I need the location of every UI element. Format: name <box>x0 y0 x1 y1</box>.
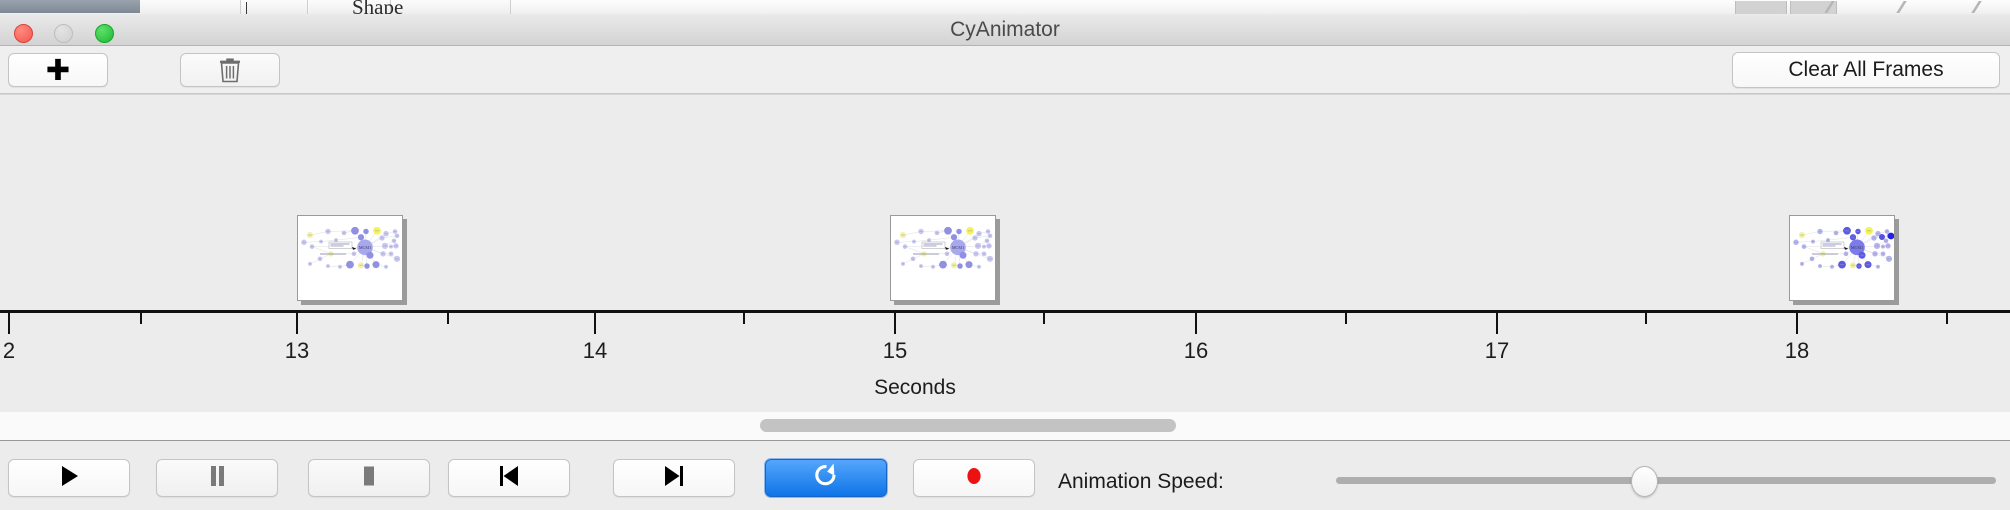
axis-tick <box>8 313 10 334</box>
axis-tick-label: 14 <box>565 338 625 364</box>
background-segment <box>140 0 221 14</box>
background-grey-box <box>1735 1 1787 14</box>
animation-speed-slider-track[interactable] <box>1336 477 1996 484</box>
timeline-scrollbar-thumb[interactable] <box>760 419 1176 432</box>
skip-forward-icon <box>661 463 687 494</box>
axis-tick-label: 17 <box>1467 338 1527 364</box>
plus-icon: ✚ <box>46 56 70 85</box>
axis-tick <box>296 313 298 334</box>
background-segment <box>400 0 511 14</box>
background-segment <box>220 0 241 14</box>
animation-speed-slider-thumb[interactable] <box>1631 466 1658 497</box>
axis-tick <box>1645 313 1647 324</box>
titlebar: CyAnimator <box>0 14 2010 46</box>
background-segment <box>247 0 308 14</box>
axis-tick-label: 13 <box>267 338 327 364</box>
axis-tick-label: 18 <box>1767 338 1827 364</box>
axis-title: Seconds <box>0 376 2010 400</box>
delete-frame-button[interactable] <box>180 53 280 87</box>
frame-thumbnail-2[interactable]: MCM1 <box>890 215 996 301</box>
svg-text:MCM1: MCM1 <box>1851 245 1863 250</box>
frame-thumbnail-3[interactable]: MCM1 <box>1789 215 1895 301</box>
skip-to-end-button[interactable] <box>613 459 735 497</box>
axis-tick-label: 2 <box>0 338 39 364</box>
stop-button[interactable] <box>308 459 430 497</box>
cyanimator-window: Shape CyAnimator ✚ Clear All <box>0 0 2010 510</box>
svg-text:MCM1: MCM1 <box>359 245 371 250</box>
timeline-scrollbar[interactable] <box>0 412 2010 441</box>
axis-tick <box>1345 313 1347 324</box>
pause-button[interactable] <box>156 459 278 497</box>
frame-thumbnail-1[interactable]: MCM1 <box>297 215 403 301</box>
axis-tick <box>447 313 449 324</box>
window-title: CyAnimator <box>0 14 2010 45</box>
record-icon <box>961 463 987 494</box>
axis-tick <box>594 313 596 334</box>
clear-all-frames-button[interactable]: Clear All Frames <box>1732 52 2000 88</box>
record-button[interactable] <box>913 459 1035 497</box>
skip-to-start-button[interactable] <box>448 459 570 497</box>
add-frame-button[interactable]: ✚ <box>8 53 108 87</box>
background-slash <box>1971 1 1997 13</box>
timeline-panel[interactable]: MCM1MCM1MCM1 2131415161718 Seconds <box>0 94 2010 413</box>
toolbar: ✚ Clear All Frames <box>0 46 2010 94</box>
transport-bar: Animation Speed: <box>0 441 2010 510</box>
axis-tick <box>894 313 896 334</box>
timeline-top-divider <box>0 94 2010 95</box>
background-titlebar-dark <box>0 0 140 13</box>
timeline-axis <box>0 310 2010 313</box>
animation-speed-label: Animation Speed: <box>1058 470 1224 494</box>
loop-button[interactable] <box>765 459 887 497</box>
axis-tick <box>1195 313 1197 334</box>
background-window-label: Shape <box>352 0 403 14</box>
axis-tick <box>1496 313 1498 334</box>
axis-tick <box>1043 313 1045 324</box>
stop-icon <box>357 463 381 494</box>
background-window-strip: Shape <box>0 0 2010 14</box>
svg-text:MCM1: MCM1 <box>952 245 964 250</box>
axis-tick <box>1946 313 1948 324</box>
trash-icon <box>218 57 242 83</box>
axis-tick <box>743 313 745 324</box>
axis-tick <box>1796 313 1798 334</box>
pause-icon <box>205 463 229 494</box>
loop-icon <box>813 462 839 494</box>
play-icon <box>57 463 81 494</box>
background-slash <box>1896 1 1922 13</box>
axis-tick-label: 15 <box>865 338 925 364</box>
clear-all-frames-label: Clear All Frames <box>1788 58 1943 82</box>
play-button[interactable] <box>8 459 130 497</box>
skip-back-icon <box>496 463 522 494</box>
axis-tick-label: 16 <box>1166 338 1226 364</box>
axis-tick <box>140 313 142 324</box>
